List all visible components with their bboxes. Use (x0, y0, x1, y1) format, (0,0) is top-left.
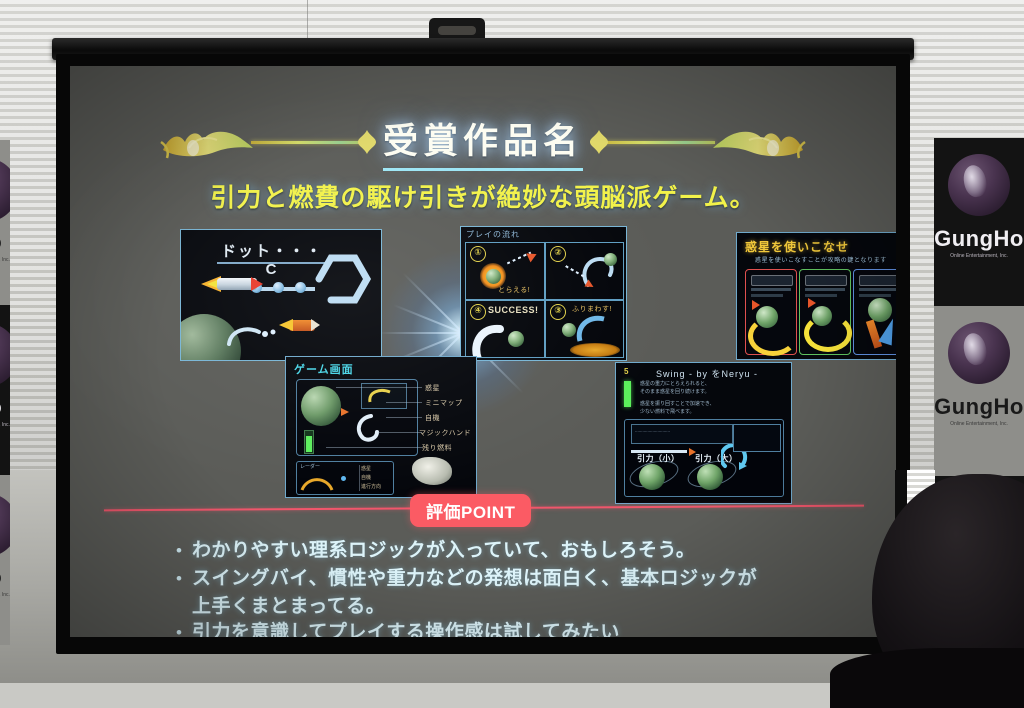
bullet-dot-icon: • (166, 620, 192, 637)
slide-title-row: 受賞作品名 (70, 112, 896, 172)
gamescreen-label: ミニマップ (425, 398, 463, 408)
panel-title: Swing - by をNeryu - (656, 367, 758, 380)
panel-body-line: そのまま惑星を回り続けます。 (640, 389, 770, 397)
radar-label: 惑星 (361, 465, 371, 472)
gold-flourish-ornament-icon (589, 122, 807, 162)
banner-brand: GungHo (934, 396, 1024, 418)
planet-card (745, 269, 797, 355)
rocket-icon (279, 316, 319, 338)
banner-tagline: Online Entertainment, Inc. (0, 593, 10, 598)
grid-cell: ④ SUCCESS! (465, 300, 545, 358)
screenshot-panel-playflow: プレイの流れ ① とらえる! ② (460, 226, 627, 361)
list-item-text: スイングバイ、慣性や重力などの発想は面白く、基本ロジックが (192, 566, 757, 592)
radar-label: 進行方向 (361, 483, 381, 490)
banner-brand: GungHo (934, 228, 1024, 250)
planet-card (799, 269, 851, 355)
banner-panel: gHo Online Entertainment, Inc. (0, 305, 10, 475)
grid-cell-label: SUCCESS! (488, 305, 539, 315)
status-badge: 評価POINT (410, 494, 531, 527)
grid-cell: ① とらえる! (465, 242, 545, 300)
panel-subtitle: 惑星を使いこなすことが攻略の鍵となります (755, 255, 887, 264)
planet-icon (697, 464, 723, 490)
presentation-slide: 受賞作品名 引力と燃費の駆け引きが絶妙な頭脳派ゲーム。 (70, 66, 896, 637)
banner-tagline: Online Entertainment, Inc. (0, 423, 10, 428)
page-title: 受賞作品名 (383, 113, 583, 171)
banner-brand: gHo (0, 567, 10, 588)
accent-bar (624, 381, 631, 407)
banner-brand: gHo (0, 397, 10, 418)
gamescreen-label: 自機 (425, 413, 440, 423)
radar-label: 自機 (361, 474, 371, 481)
screenshot-panel-swingby: 5 Swing - by をNeryu - 惑星の重力にとらえられると、 そのま… (615, 362, 792, 504)
gamescreen-label: 残り燃料 (422, 443, 452, 453)
banner-tagline: Online Entertainment, Inc. (934, 254, 1024, 259)
gamescreen-label: 惑星 (425, 383, 440, 393)
bullet-dot-icon: • (166, 566, 192, 592)
planet-card (853, 269, 896, 355)
screenshot-panel-gamescreen: ゲーム画面 惑星 ミニマップ (285, 356, 477, 498)
banner-panel: gHo Online Entertainment, Inc. (0, 140, 10, 305)
panel-body-line: 惑星を振り回すことで加速でき、 (640, 401, 770, 409)
gungho-spiral-logo-icon (0, 323, 10, 387)
gamescreen-label: マジックハンド (419, 428, 471, 438)
gungho-banner-left: gHo Online Entertainment, Inc. gHo Onlin… (0, 140, 10, 645)
list-item-text: 引力を意識してプレイする操作感は試してみたい (192, 620, 620, 637)
chain-node-icon (273, 282, 284, 293)
banner-panel: GungHo Online Entertainment, Inc. (934, 138, 1024, 306)
slide-subtitle: 引力と燃費の駆け引きが絶妙な頭脳派ゲーム。 (70, 178, 896, 214)
planet-icon (639, 464, 665, 490)
step-number: ③ (550, 304, 566, 320)
banner-panel: GungHo Online Entertainment, Inc. (934, 306, 1024, 476)
banner-panel: gHo Online Entertainment, Inc. (0, 475, 10, 645)
gungho-spiral-logo-icon (0, 158, 10, 222)
grid-cell-label: とらえる! (498, 285, 530, 295)
step-number: ① (470, 246, 486, 262)
swingby-diagram: ............................ 引力（小） 引力（大） (624, 419, 784, 497)
grid-cell: ② (545, 242, 624, 300)
chain-node-icon (295, 282, 306, 293)
panel-caption: ゲーム画面 (294, 361, 354, 377)
magic-hand-icon (349, 410, 385, 444)
panel-body-line: 惑星の重力にとらえられると、 (640, 381, 770, 389)
gungho-spiral-logo-icon (0, 493, 10, 557)
banner-brand: gHo (0, 232, 10, 253)
slide-number: 5 (624, 367, 628, 376)
step-number: ④ (470, 304, 486, 320)
asteroid-icon (412, 457, 452, 485)
gungho-spiral-logo-icon (948, 154, 1010, 216)
list-item-text: わかりやすい理系ロジックが入っていて、おもしろそう。 (192, 538, 695, 564)
radar-diagram: レーダー 惑星 自機 進行方向 (296, 461, 394, 495)
evaluation-points-list: • わかりやすい理系ロジックが入っていて、おもしろそう。 • スイングバイ、慣性… (166, 538, 866, 637)
rocket-icon (203, 274, 261, 294)
banner-tagline: Online Entertainment, Inc. (0, 258, 10, 263)
banner-tagline: Online Entertainment, Inc. (934, 422, 1024, 427)
gravity-label: 引力（小） (637, 453, 680, 464)
radar-caption: レーダー (300, 463, 320, 470)
fuel-gauge (304, 430, 314, 454)
list-item: • わかりやすい理系ロジックが入っていて、おもしろそう。 (166, 538, 866, 564)
orbit-trail-icon (225, 322, 285, 352)
hexagon-path-icon (315, 248, 373, 310)
screenshot-panel-planet-cards: 惑星を使いこなせ 惑星を使いこなすことが攻略の鍵となります (736, 232, 896, 360)
panel-title: 惑星を使いこなせ (745, 238, 849, 255)
gungho-spiral-logo-icon (948, 322, 1010, 384)
audience-member-shoulder (830, 648, 1024, 708)
projector-screen: 受賞作品名 引力と燃費の駆け引きが絶妙な頭脳派ゲーム。 (52, 18, 914, 663)
list-item: • スイングバイ、慣性や重力などの発想は面白く、基本ロジックが 上手くまとまって… (166, 566, 866, 620)
grid-cell: ③ ふりまわす! (545, 300, 624, 358)
planet-icon (301, 386, 341, 426)
gold-flourish-ornament-icon (159, 122, 377, 162)
list-item-continuation: 上手くまとまってる。 (192, 594, 866, 620)
game-logo: ドット・・・C (217, 240, 327, 264)
step-number: ② (550, 246, 566, 262)
panel-body-line: 少ない燃料で飛べます。 (640, 409, 770, 417)
screen-border: 受賞作品名 引力と燃費の駆け引きが絶妙な頭脳派ゲーム。 (56, 54, 910, 654)
bullet-dot-icon: • (166, 538, 192, 564)
list-item: • 引力を意識してプレイする操作感は試してみたい (166, 620, 866, 637)
screenshot-panel-rocket: ドット・・・C (180, 229, 382, 361)
panel-caption: プレイの流れ (466, 229, 520, 240)
